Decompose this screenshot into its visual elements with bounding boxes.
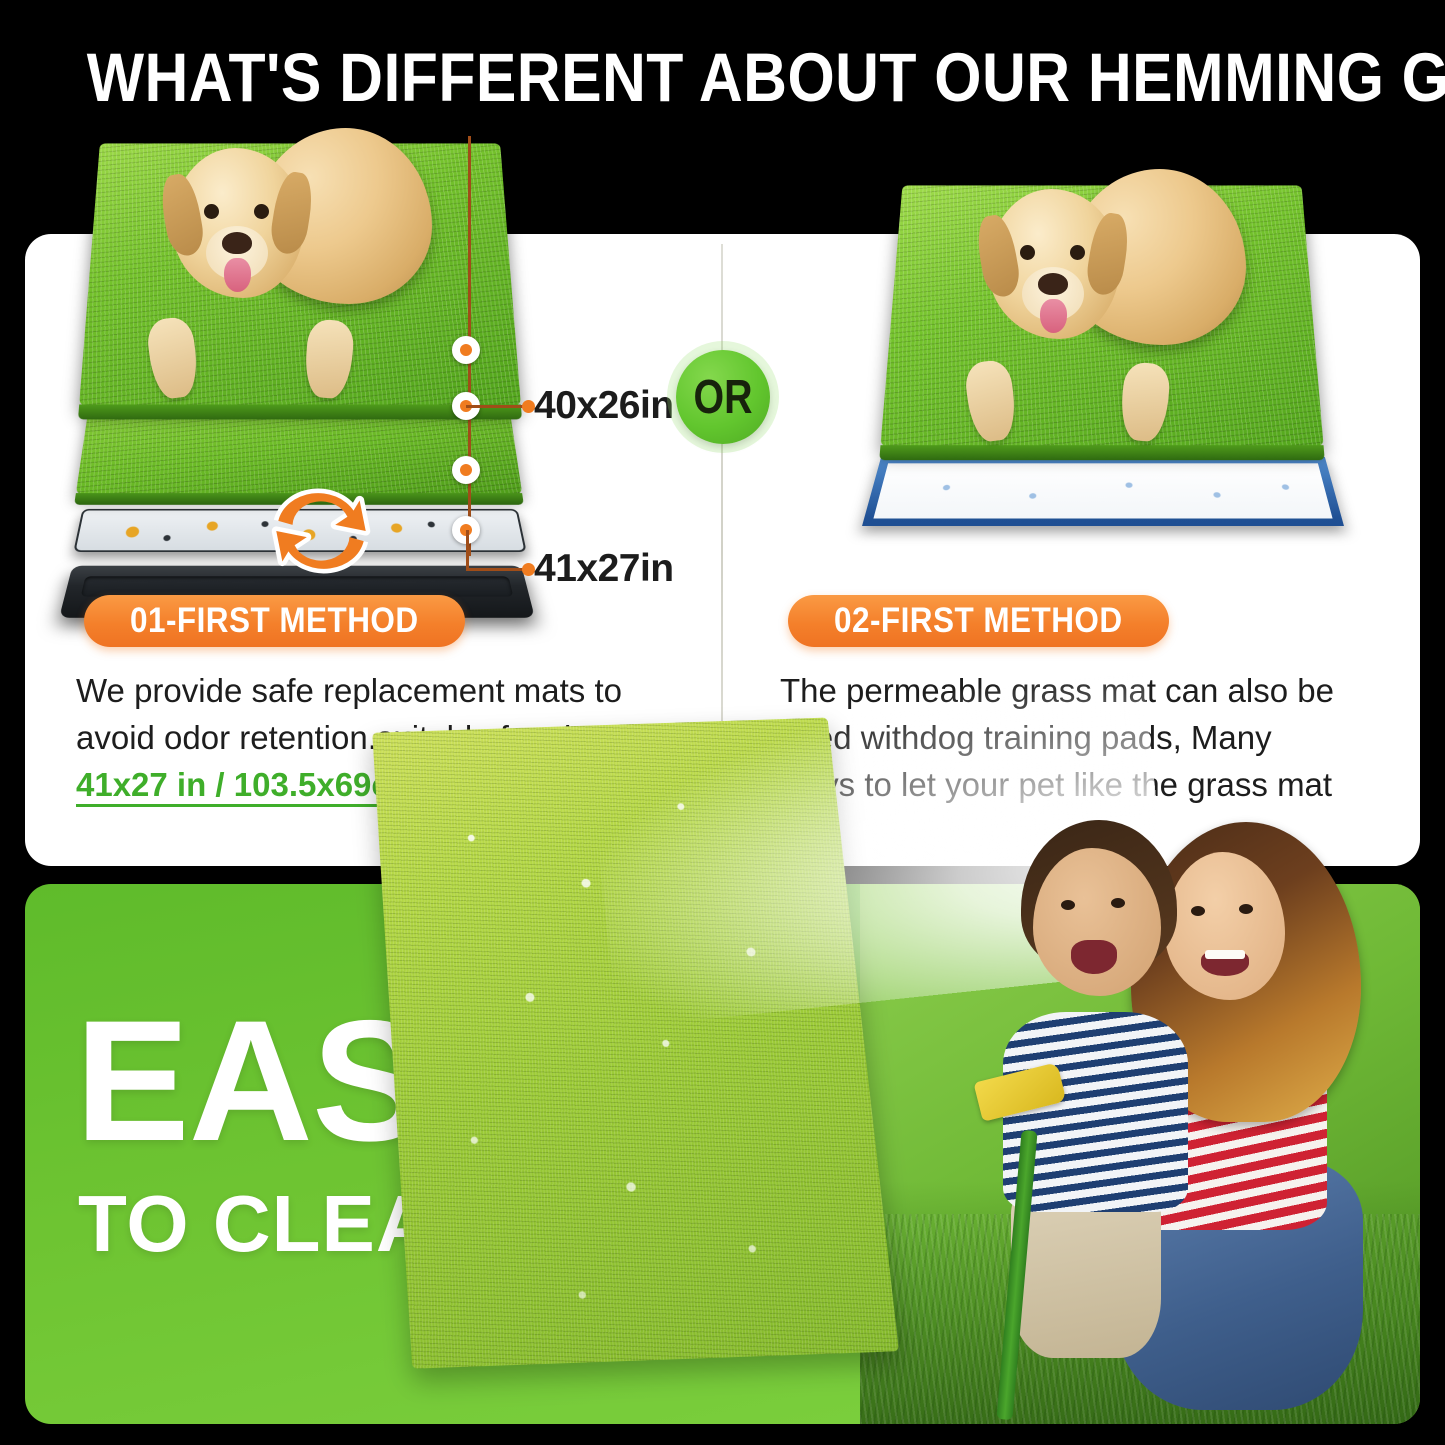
family-with-hose-photo (985, 800, 1385, 1420)
top-grass-mat-layer (79, 143, 521, 405)
or-badge: OR (676, 350, 770, 444)
permeable-grass-mat-layer (880, 185, 1323, 446)
callout-leader-horizontal-top (466, 405, 530, 408)
callout-leader-vertical-top (468, 136, 471, 404)
method-badge-01: 01-FIRST METHOD (84, 595, 465, 647)
method-badge-02: 02-FIRST METHOD (788, 595, 1169, 647)
swap-arrows-icon (260, 474, 382, 590)
callout-dot-icon-upper (452, 336, 480, 364)
method-02-text-before: The permeable grass mat can also be used… (780, 672, 1334, 803)
dimension-label-bottom: 41x27in (534, 547, 674, 591)
callout-leader-elbow (466, 530, 469, 570)
grass-mat-over-training-pad-illustration (850, 155, 1350, 555)
or-badge-label: OR (693, 370, 752, 425)
method-02-description: The permeable grass mat can also be used… (780, 668, 1340, 809)
page-title: WHAT'S DIFFERENT ABOUT OUR HEMMING GRASS… (87, 38, 1359, 117)
method-badge-02-label: 02-FIRST METHOD (834, 601, 1123, 641)
callout-dot-icon-pad (452, 456, 480, 484)
callout-leader-horizontal-bottom (466, 568, 530, 571)
training-pad-layer (862, 457, 1344, 526)
dimension-label-top: 40x26in (534, 384, 674, 428)
method-01-highlight: 41x27 in / 103.5x69cm (76, 766, 419, 807)
wet-grass-mat (372, 718, 899, 1369)
method-badge-01-label: 01-FIRST METHOD (130, 601, 419, 641)
